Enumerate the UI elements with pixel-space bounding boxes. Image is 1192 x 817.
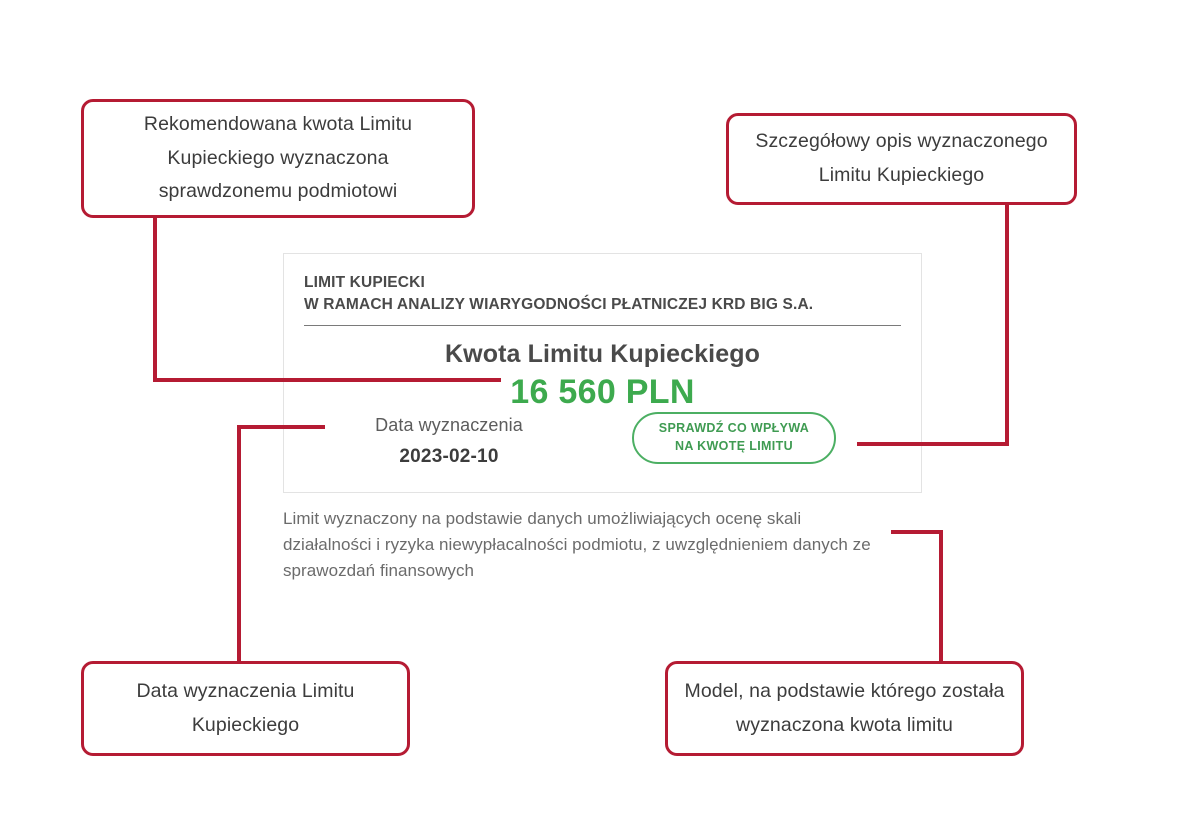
callout-recommended-amount: Rekomendowana kwota Limitu Kupieckiego w… xyxy=(81,99,475,218)
connector-date-issued-horizontal xyxy=(237,425,325,429)
callout-recommended-amount-text: Rekomendowana kwota Limitu Kupieckiego w… xyxy=(84,108,472,209)
connector-date-issued-vertical xyxy=(237,425,241,663)
amount-title: Kwota Limitu Kupieckiego xyxy=(284,340,921,369)
callout-model-basis: Model, na podstawie którego została wyzn… xyxy=(665,661,1024,756)
check-limit-influence-button-line-2: NA KWOTĘ LIMITU xyxy=(675,439,793,453)
connector-model-basis-horizontal xyxy=(891,530,943,534)
connector-detailed-description-vertical xyxy=(1005,202,1009,446)
card-header-line-2: W RAMACH ANALIZY WIARYGODNOŚCI PŁATNICZE… xyxy=(304,294,921,316)
callout-date-issued: Data wyznaczenia Limitu Kupieckiego xyxy=(81,661,410,756)
date-value: 2023-02-10 xyxy=(284,446,614,468)
date-label: Data wyznaczenia xyxy=(284,415,614,436)
callout-date-issued-text: Data wyznaczenia Limitu Kupieckiego xyxy=(84,675,407,742)
callout-model-basis-text: Model, na podstawie którego została wyzn… xyxy=(668,675,1021,742)
check-limit-influence-button[interactable]: SPRAWDŹ CO WPŁYWA NA KWOTĘ LIMITU xyxy=(632,412,836,464)
date-block: Data wyznaczenia 2023-02-10 xyxy=(284,412,614,468)
callout-detailed-description: Szczegółowy opis wyznaczonego Limitu Kup… xyxy=(726,113,1077,205)
check-limit-influence-button-line-1: SPRAWDŹ CO WPŁYWA xyxy=(659,421,809,435)
card-divider xyxy=(304,325,901,326)
check-limit-influence-button-label: SPRAWDŹ CO WPŁYWA NA KWOTĘ LIMITU xyxy=(659,420,809,456)
callout-detailed-description-text: Szczegółowy opis wyznaczonego Limitu Kup… xyxy=(729,125,1074,192)
connector-detailed-description-horizontal xyxy=(857,442,1009,446)
card-footer: Data wyznaczenia 2023-02-10 SPRAWDŹ CO W… xyxy=(284,412,921,468)
limit-kupiecki-card: LIMIT KUPIECKI W RAMACH ANALIZY WIARYGOD… xyxy=(283,253,922,493)
card-header: LIMIT KUPIECKI W RAMACH ANALIZY WIARYGOD… xyxy=(304,272,921,316)
connector-model-basis-vertical xyxy=(939,530,943,663)
limit-description: Limit wyznaczony na podstawie danych umo… xyxy=(283,506,883,583)
connector-recommended-amount-vertical xyxy=(153,215,157,382)
connector-recommended-amount-horizontal xyxy=(153,378,501,382)
annotated-screenshot-canvas: Rekomendowana kwota Limitu Kupieckiego w… xyxy=(0,0,1192,817)
card-header-line-1: LIMIT KUPIECKI xyxy=(304,272,921,294)
